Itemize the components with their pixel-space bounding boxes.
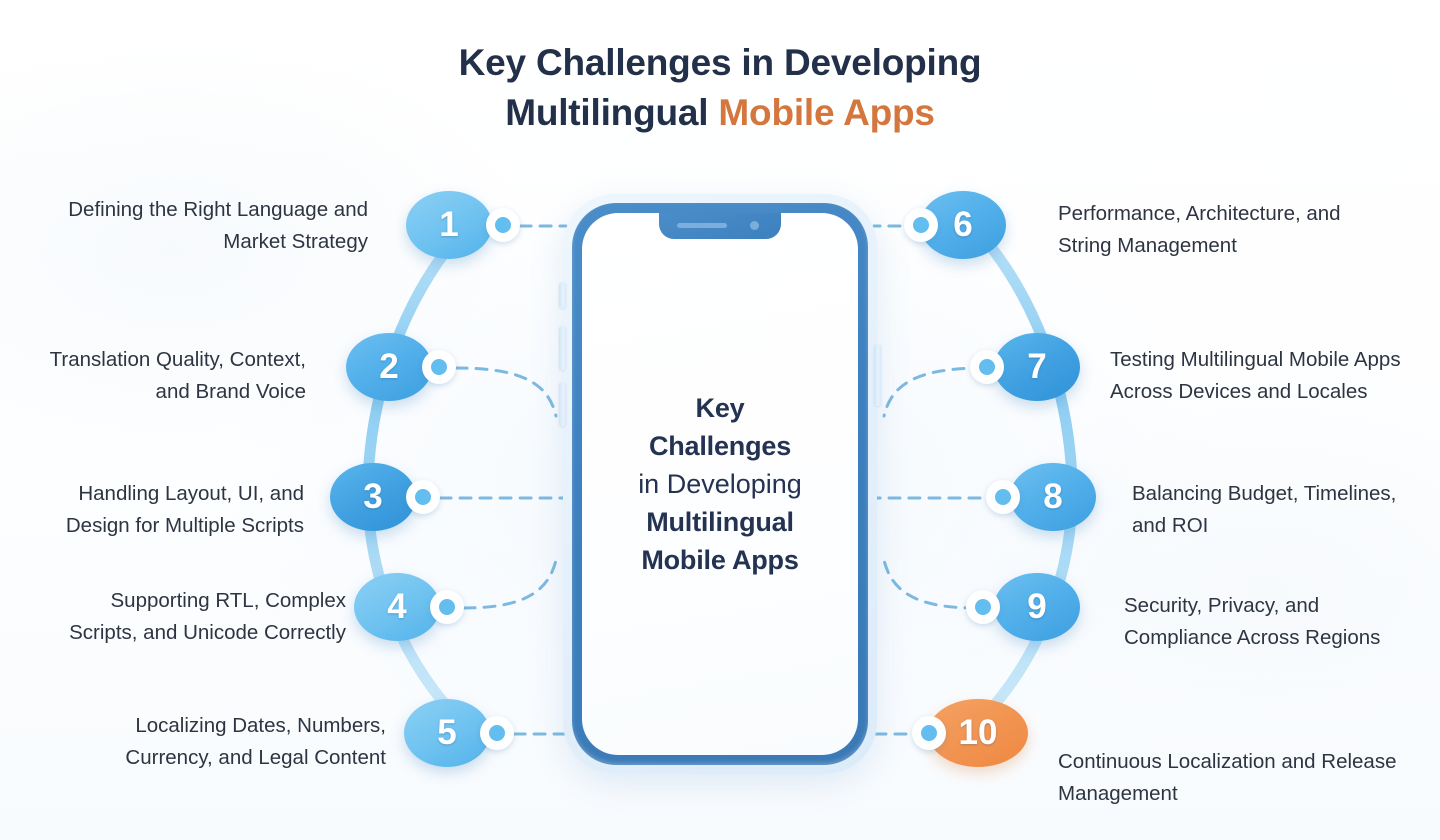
step-label-1: Defining the Right Language and Market S… <box>56 194 368 258</box>
step-number-8: 8 <box>1043 477 1062 517</box>
phone-mockup: Key Challenges in Developing Multilingua… <box>563 194 877 774</box>
phone-screen: Key Challenges in Developing Multilingua… <box>582 213 858 755</box>
phone-frame: Key Challenges in Developing Multilingua… <box>572 203 868 765</box>
dot-core-icon <box>431 359 447 375</box>
center-line-4: Multilingual <box>646 503 794 541</box>
step-number-6: 6 <box>953 205 972 245</box>
step-label-4: Supporting RTL, Complex Scripts, and Uni… <box>44 585 346 649</box>
connector-2 <box>456 368 556 416</box>
step-dot-5[interactable] <box>480 716 514 750</box>
dot-core-icon <box>489 725 505 741</box>
step-label-6: Performance, Architecture, and String Ma… <box>1058 198 1388 262</box>
phone-center-text: Key Challenges in Developing Multilingua… <box>582 213 858 755</box>
step-dot-3[interactable] <box>406 480 440 514</box>
dot-core-icon <box>415 489 431 505</box>
step-label-3: Handling Layout, UI, and Design for Mult… <box>10 478 304 542</box>
step-number-5: 5 <box>437 713 456 753</box>
step-badge-3[interactable]: 3 <box>330 463 416 531</box>
step-label-10: Continuous Localization and Release Mana… <box>1058 746 1398 810</box>
step-dot-7[interactable] <box>970 350 1004 384</box>
step-number-4: 4 <box>387 587 406 627</box>
step-badge-1[interactable]: 1 <box>406 191 492 259</box>
step-label-7: Testing Multilingual Mobile Apps Across … <box>1110 344 1430 408</box>
step-dot-8[interactable] <box>986 480 1020 514</box>
step-badge-5[interactable]: 5 <box>404 699 490 767</box>
connector-7 <box>884 368 984 416</box>
step-dot-6[interactable] <box>904 208 938 242</box>
dot-core-icon <box>921 725 937 741</box>
connector-4 <box>464 560 556 608</box>
dot-core-icon <box>913 217 929 233</box>
step-number-3: 3 <box>363 477 382 517</box>
step-number-7: 7 <box>1027 347 1046 387</box>
infographic-canvas: Key Challenges in Developing Multilingua… <box>0 0 1440 840</box>
dot-core-icon <box>495 217 511 233</box>
step-badge-9[interactable]: 9 <box>994 573 1080 641</box>
step-label-8: Balancing Budget, Timelines, and ROI <box>1132 478 1422 542</box>
step-number-10: 10 <box>959 713 998 753</box>
step-badge-7[interactable]: 7 <box>994 333 1080 401</box>
dot-core-icon <box>979 359 995 375</box>
phone-volume-up-button[interactable] <box>559 326 566 370</box>
step-dot-10[interactable] <box>912 716 946 750</box>
step-badge-4[interactable]: 4 <box>354 573 440 641</box>
step-number-2: 2 <box>379 347 398 387</box>
connector-9 <box>884 560 976 608</box>
dot-core-icon <box>439 599 455 615</box>
step-dot-2[interactable] <box>422 350 456 384</box>
center-line-3: in Developing <box>638 465 802 503</box>
center-line-2: Challenges <box>649 427 791 465</box>
step-dot-1[interactable] <box>486 208 520 242</box>
step-badge-2[interactable]: 2 <box>346 333 432 401</box>
phone-power-button[interactable] <box>874 344 881 406</box>
step-label-9: Security, Privacy, and Compliance Across… <box>1124 590 1424 654</box>
step-dot-9[interactable] <box>966 590 1000 624</box>
center-line-5: Mobile Apps <box>641 541 798 579</box>
phone-volume-down-button[interactable] <box>559 382 566 426</box>
step-label-2: Translation Quality, Context, and Brand … <box>20 344 306 408</box>
step-number-1: 1 <box>439 205 458 245</box>
step-label-5: Localizing Dates, Numbers, Currency, and… <box>66 710 386 774</box>
step-badge-8[interactable]: 8 <box>1010 463 1096 531</box>
dot-core-icon <box>975 599 991 615</box>
step-number-9: 9 <box>1027 587 1046 627</box>
dot-core-icon <box>995 489 1011 505</box>
phone-mute-button[interactable] <box>559 282 566 308</box>
step-dot-4[interactable] <box>430 590 464 624</box>
center-line-1: Key <box>696 389 745 427</box>
